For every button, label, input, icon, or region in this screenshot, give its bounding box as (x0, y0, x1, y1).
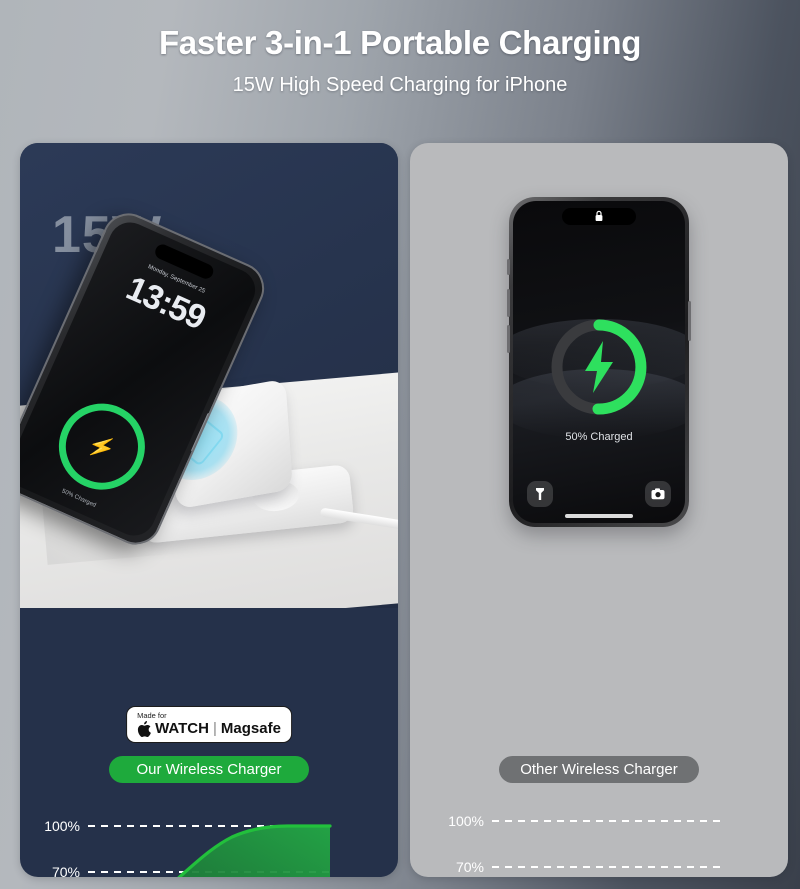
y-axis-labels: 100% 70% 50% 20% (448, 813, 484, 877)
y-axis-labels: 100% 70% 50% 20% (44, 818, 80, 877)
home-indicator (565, 514, 633, 518)
ytick-70: 70% (456, 859, 484, 875)
product-photo: 15W Monday, September 25 13:59 ⚡ 50% Cha… (20, 143, 398, 608)
made-for-magsafe: Magsafe (221, 720, 281, 737)
ytick-100: 100% (44, 818, 80, 834)
charged-label: 50% Charged (513, 431, 685, 443)
page-title: Faster 3-in-1 Portable Charging (0, 0, 800, 62)
mute-switch (507, 259, 510, 275)
made-for-badge: Made for WATCH | Magsafe (126, 706, 292, 743)
comparison-iphone-screen: 50% Charged (513, 201, 685, 523)
flashlight-button[interactable] (527, 481, 553, 507)
panel-other-charger: 50% Charged O (410, 143, 788, 877)
lockscreen-time: 13:59 (86, 254, 244, 353)
camera-icon (651, 488, 665, 500)
header: Faster 3-in-1 Portable Charging 15W High… (0, 0, 800, 128)
camera-button[interactable] (645, 481, 671, 507)
volume-up-button (507, 289, 510, 317)
power-button (688, 301, 691, 341)
flashlight-icon (534, 487, 546, 501)
lock-icon (595, 210, 603, 222)
charging-ring-wrap (547, 315, 651, 419)
made-for-label: Made for (137, 711, 281, 720)
label-our-wireless-charger: Our Wireless Charger (109, 756, 309, 783)
gridlines (492, 821, 726, 877)
label-other-wireless-charger: Other Wireless Charger (499, 756, 699, 783)
made-for-watch: WATCH (155, 720, 209, 737)
ytick-70: 70% (52, 864, 80, 877)
made-for-separator: | (213, 720, 217, 737)
chart-our-charger: 100% 70% 50% 20% 0.5h 1h 2h 3h (20, 793, 398, 877)
page-subtitle: 15W High Speed Charging for iPhone (0, 62, 800, 97)
ytick-100: 100% (448, 813, 484, 829)
lightning-bolt-icon (585, 341, 613, 393)
chart-other-charger: 100% 70% 50% 20% 0.5h 1h 2h 3h (410, 793, 788, 877)
volume-down-button (507, 325, 510, 353)
apple-logo-icon (137, 721, 151, 737)
infographic-root: Faster 3-in-1 Portable Charging 15W High… (0, 0, 800, 889)
panel-our-charger: 15W Monday, September 25 13:59 ⚡ 50% Cha… (20, 143, 398, 877)
comparison-iphone: 50% Charged (509, 197, 689, 527)
